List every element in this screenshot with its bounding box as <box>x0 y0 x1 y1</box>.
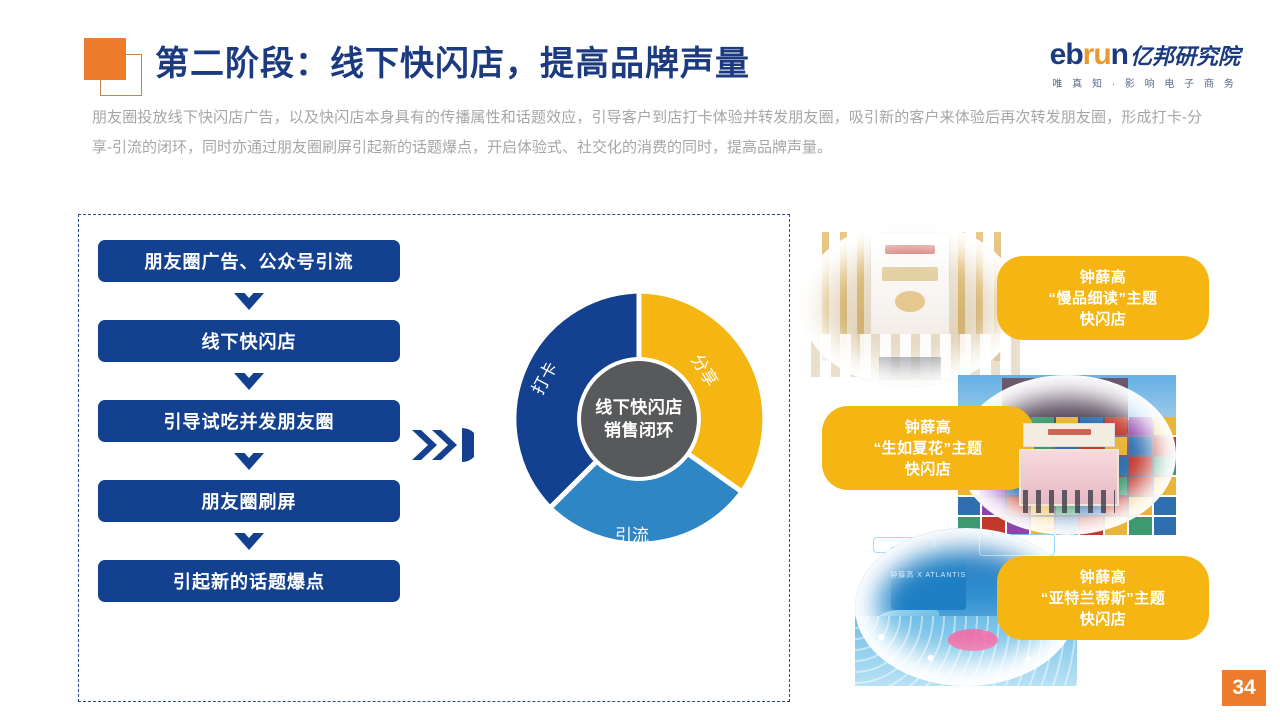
photo-vignette-1 <box>800 222 1020 387</box>
chevron-down-icon <box>234 453 264 470</box>
logo-text-en: ebrun <box>1050 40 1128 70</box>
callout-3-line-3: 快闪店 <box>1080 609 1127 630</box>
intro-paragraph: 朋友圈投放线下快闪店广告，以及快闪店本身具有的传播属性和话题效应，引导客户到店打… <box>92 103 1202 163</box>
flow-step-5: 引起新的话题爆点 <box>98 560 400 602</box>
callout-2-line-3: 快闪店 <box>905 459 952 480</box>
donut-segment-label-yinliu: 引流 <box>615 521 649 546</box>
flow-arrow-4 <box>98 528 400 554</box>
flow-step-2: 线下快闪店 <box>98 320 400 362</box>
flow-step-3: 引导试吃并发朋友圈 <box>98 400 400 442</box>
callout-1-line-3: 快闪店 <box>1080 309 1127 330</box>
page-number-badge: 34 <box>1222 670 1266 706</box>
photo-mall-atrium-popup-store <box>800 222 1020 387</box>
sales-loop-donut-chart: 线下快闪店 销售闭环 打卡 分享 引流 <box>503 283 775 555</box>
callout-2-line-2: “生如夏花”主题 <box>873 438 982 459</box>
page-title: 第二阶段：线下快闪店，提高品牌声量 <box>155 36 750 85</box>
logo-wordmark: ebrun 亿邦研究院 <box>1050 40 1240 70</box>
flow-step-4: 朋友圈刷屏 <box>98 480 400 522</box>
callout-3-line-1: 钟薛高 <box>1080 567 1127 588</box>
flow-arrow-2 <box>98 368 400 394</box>
callout-label-1: 钟薛高 “慢品细读”主题 快闪店 <box>997 256 1209 340</box>
ebrun-logo: ebrun 亿邦研究院 唯 真 知 · 影 响 电 子 商 务 <box>1050 40 1240 90</box>
flow-arrow-1 <box>98 288 400 314</box>
flow-step-1: 朋友圈广告、公众号引流 <box>98 240 400 282</box>
flow-chart: 朋友圈广告、公众号引流 线下快闪店 引导试吃并发朋友圈 朋友圈刷屏 引起新的话题… <box>98 240 400 602</box>
chevron-down-icon <box>234 533 264 550</box>
callout-1-line-1: 钟薛高 <box>1080 267 1127 288</box>
double-chevron-right-icon <box>412 428 474 462</box>
callout-1-line-2: “慢品细读”主题 <box>1048 288 1157 309</box>
callout-label-2: 钟薛高 “生如夏花”主题 快闪店 <box>822 406 1034 490</box>
logo-text-cn: 亿邦研究院 <box>1130 46 1240 68</box>
accent-square-filled <box>84 38 126 80</box>
flow-arrow-3 <box>98 448 400 474</box>
chevron-down-icon <box>234 373 264 390</box>
callout-label-3: 钟薛高 “亚特兰蒂斯”主题 快闪店 <box>997 556 1209 640</box>
chevron-down-icon <box>234 293 264 310</box>
callout-2-line-1: 钟薛高 <box>905 417 952 438</box>
callout-3-line-2: “亚特兰蒂斯”主题 <box>1041 588 1166 609</box>
logo-tagline: 唯 真 知 · 影 响 电 子 商 务 <box>1050 75 1240 90</box>
title-accent-mark <box>84 38 144 94</box>
